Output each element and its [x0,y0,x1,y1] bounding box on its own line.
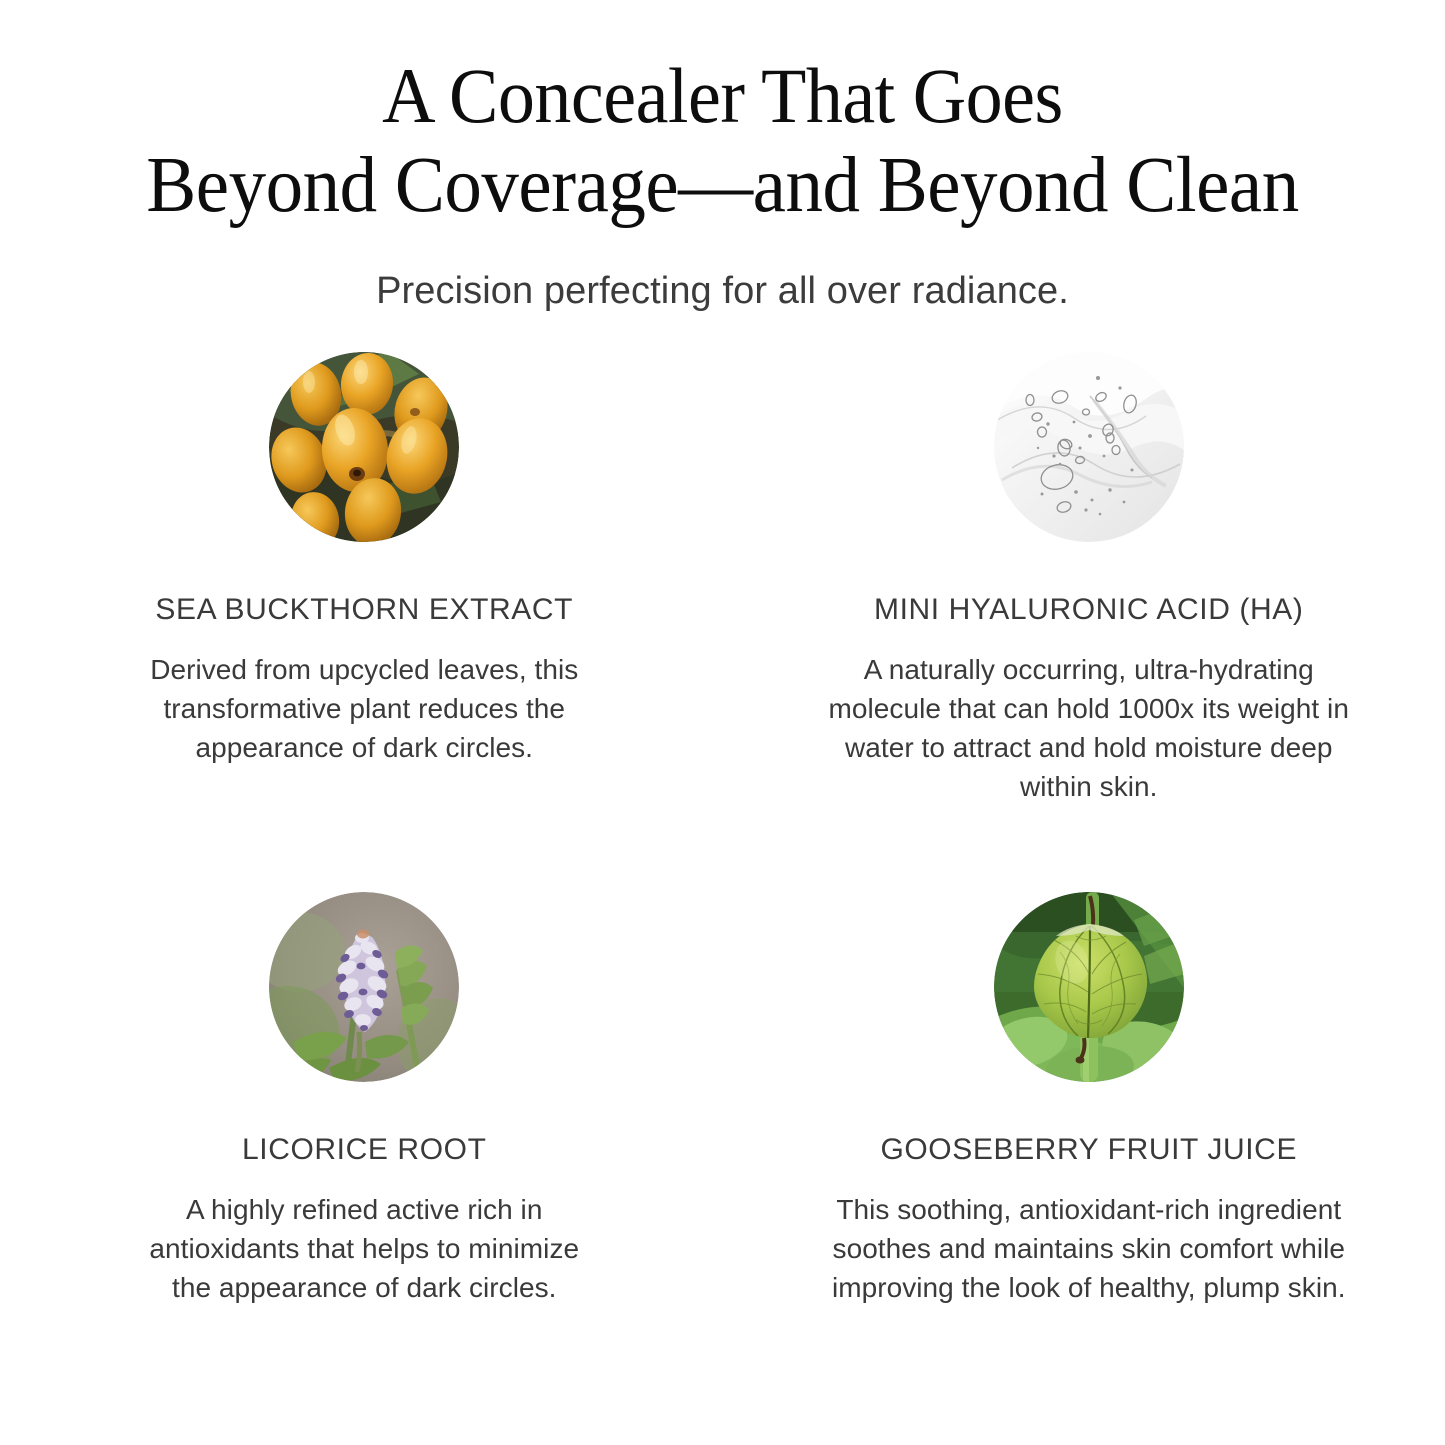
ingredient-description: This soothing, antioxidant-rich ingredie… [819,1190,1359,1307]
gooseberry-thumbnail [994,892,1184,1082]
licorice-root-flower-icon [269,892,459,1082]
ingredient-description: A naturally occurring, ultra-hydrating m… [819,650,1359,806]
sea-buckthorn-berries-icon [269,352,459,542]
licorice-root-thumbnail [269,892,459,1082]
ingredient-description: A highly refined active rich in antioxid… [134,1190,594,1307]
ingredient-title: GOOSEBERRY FRUIT JUICE [819,1132,1359,1168]
ingredient-card-mini-hyaluronic-acid: MINI HYALURONIC ACID (HA) A naturally oc… [723,352,1445,806]
page-subtitle: Precision perfecting for all over radian… [0,268,1445,314]
page-title-line-2: Beyond Coverage—and Beyond Clean [60,141,1385,230]
page-title: A Concealer That Goes Beyond Coverage—an… [0,52,1445,230]
ingredient-title: SEA BUCKTHORN EXTRACT [134,592,594,628]
ingredient-card-sea-buckthorn-extract: SEA BUCKTHORN EXTRACT Derived from upcyc… [0,352,723,806]
ingredient-title: LICORICE ROOT [134,1132,594,1168]
gooseberry-husk-fruit-icon [994,892,1184,1082]
sea-buckthorn-thumbnail [269,352,459,542]
ingredient-title: MINI HYALURONIC ACID (HA) [819,592,1359,628]
ingredients-grid: SEA BUCKTHORN EXTRACT Derived from upcyc… [0,352,1445,1307]
ingredient-card-gooseberry-fruit-juice: GOOSEBERRY FRUIT JUICE This soothing, an… [723,892,1445,1307]
ingredient-card-licorice-root: LICORICE ROOT A highly refined active ri… [0,892,723,1307]
ingredient-description: Derived from upcycled leaves, this trans… [134,650,594,767]
hyaluronic-acid-gel-icon [994,352,1184,542]
header: A Concealer That Goes Beyond Coverage—an… [0,52,1445,314]
ingredient-benefits-infographic: A Concealer That Goes Beyond Coverage—an… [0,0,1445,1445]
hyaluronic-acid-thumbnail [994,352,1184,542]
page-title-line-1: A Concealer That Goes [60,52,1385,141]
